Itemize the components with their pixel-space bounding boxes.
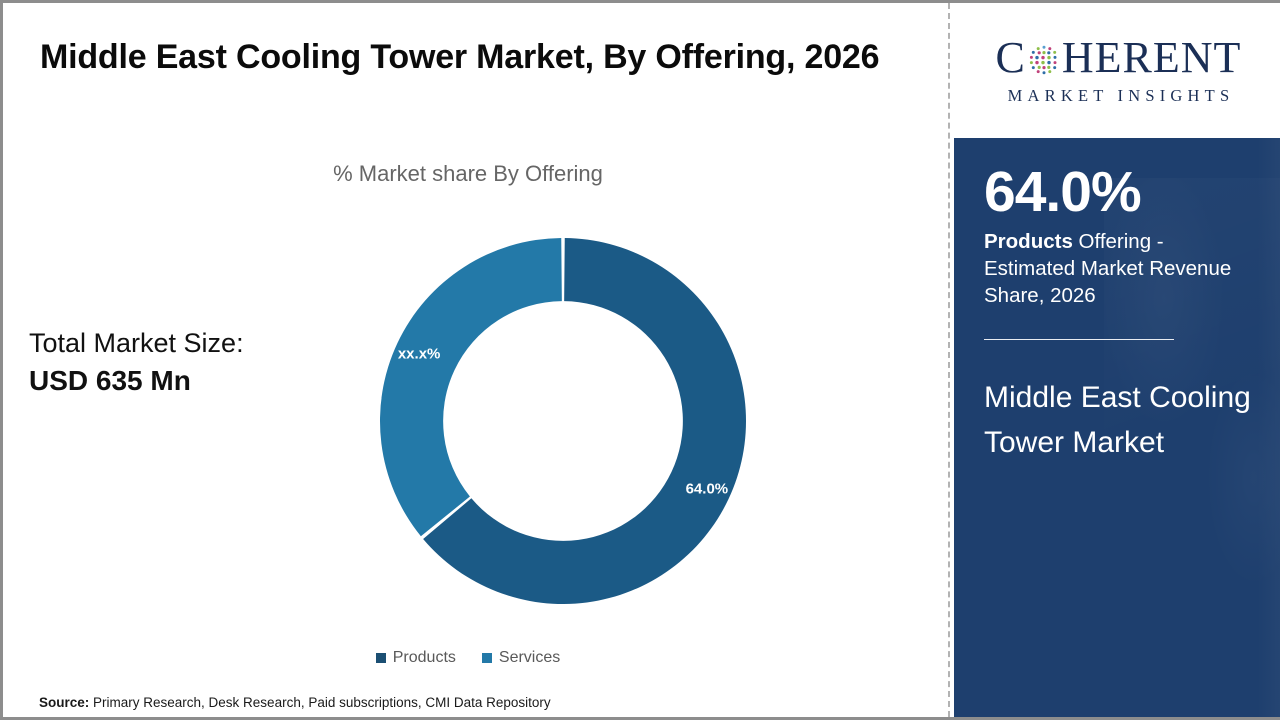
donut-slices <box>380 238 746 604</box>
chart-legend: ProductsServices <box>3 649 933 667</box>
globe-dots-icon <box>1027 43 1061 77</box>
donut-chart: 64.0%xx.x% <box>375 233 751 609</box>
logo-subtitle: MARKET INSIGHTS <box>1003 86 1235 106</box>
main-content-area: Middle East Cooling Tower Market, By Off… <box>3 3 951 717</box>
infographic-page: Middle East Cooling Tower Market, By Off… <box>0 0 1280 720</box>
chart-subtitle: % Market share By Offering <box>3 161 933 187</box>
legend-swatch-icon <box>376 653 386 663</box>
source-note: Source: Primary Research, Desk Research,… <box>39 695 551 710</box>
highlight-panel: 64.0% Products Offering - Estimated Mark… <box>954 138 1280 717</box>
legend-label: Products <box>393 649 456 667</box>
slice-label-services: xx.x% <box>398 345 441 362</box>
legend-item-services: Services <box>482 649 560 667</box>
panel-divider-rule <box>984 339 1174 340</box>
source-label: Source: <box>39 695 89 710</box>
panel-market-title: Middle East Cooling Tower Market <box>984 375 1253 465</box>
logo-letters-herent: HERENT <box>1062 36 1242 80</box>
highlight-panel-content: 64.0% Products Offering - Estimated Mark… <box>954 163 1280 465</box>
total-market-size-label: Total Market Size: <box>29 325 244 361</box>
logo-wordmark: C <box>996 36 1242 80</box>
stat-caption-bold: Products <box>984 230 1073 253</box>
donut-slice-services <box>380 238 562 536</box>
total-market-size-value: USD 635 Mn <box>29 361 244 401</box>
brand-logo: C <box>954 3 1280 138</box>
stat-caption: Products Offering - Estimated Market Rev… <box>984 228 1253 309</box>
logo-letter-c: C <box>996 36 1026 80</box>
stat-value: 64.0% <box>984 163 1253 223</box>
slice-label-products: 64.0% <box>686 481 729 498</box>
legend-item-products: Products <box>376 649 456 667</box>
page-title: Middle East Cooling Tower Market, By Off… <box>40 31 900 83</box>
panel-divider <box>948 3 950 717</box>
source-text: Primary Research, Desk Research, Paid su… <box>89 695 550 710</box>
legend-swatch-icon <box>482 653 492 663</box>
total-market-size-block: Total Market Size: USD 635 Mn <box>29 325 244 401</box>
donut-chart-svg: 64.0%xx.x% <box>375 233 751 609</box>
legend-label: Services <box>499 649 560 667</box>
